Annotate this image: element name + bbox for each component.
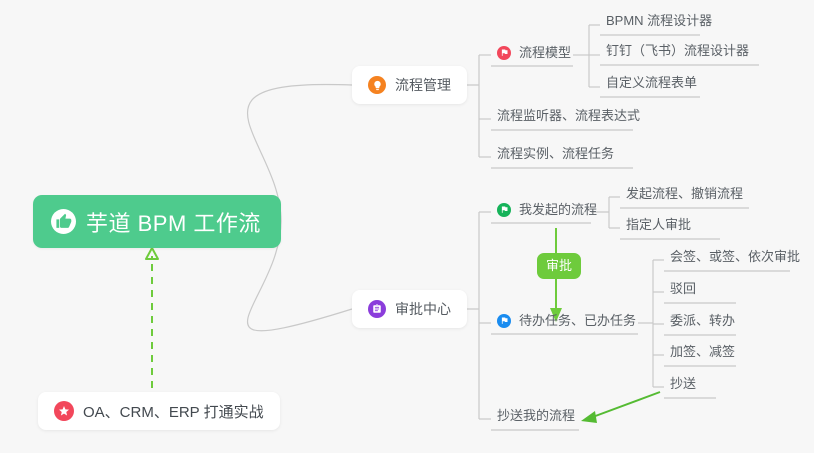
- leaf-label: 流程监听器、流程表达式: [497, 108, 640, 124]
- flag-icon: [497, 314, 511, 328]
- star-icon: [54, 401, 74, 421]
- leaf-todo-done-tasks[interactable]: 待办任务、已办任务: [491, 312, 642, 334]
- leaf-label: 流程实例、流程任务: [497, 146, 614, 162]
- leaf-label: 钉钉（飞书）流程设计器: [606, 43, 749, 59]
- leaf-process-listener[interactable]: 流程监听器、流程表达式: [491, 108, 646, 129]
- leaf-label: 指定人审批: [626, 217, 691, 233]
- lightbulb-icon: [368, 76, 386, 94]
- leaf-label: 抄送: [670, 376, 696, 392]
- branch-node-process-management[interactable]: 流程管理: [352, 66, 467, 104]
- flag-icon: [497, 203, 511, 217]
- leaf-process-model[interactable]: 流程模型: [491, 44, 577, 66]
- branch-label-process-management: 流程管理: [395, 75, 451, 95]
- branch-label-approval-center: 审批中心: [395, 299, 451, 319]
- root-label: 芋道 BPM 工作流: [86, 206, 261, 238]
- integration-label: OA、CRM、ERP 打通实战: [83, 401, 264, 422]
- arrow-cc-to-cc-to-me: [581, 392, 660, 423]
- leaf-label: 流程模型: [519, 44, 571, 61]
- leaf-assignee-approve[interactable]: 指定人审批: [620, 217, 697, 238]
- leaf-my-initiated[interactable]: 我发起的流程: [491, 201, 603, 223]
- leaf-label: 驳回: [670, 281, 696, 297]
- leaf-cc[interactable]: 抄送: [664, 376, 702, 397]
- leaf-reject[interactable]: 驳回: [664, 281, 702, 302]
- leaf-label: 发起流程、撤销流程: [626, 186, 743, 202]
- leaf-label: 加签、减签: [670, 344, 735, 360]
- leaf-label: 待办任务、已办任务: [519, 312, 636, 329]
- leaf-label: 委派、转办: [670, 313, 735, 329]
- annotation-approve-label: 审批: [546, 258, 572, 273]
- leaf-cc-to-me[interactable]: 抄送我的流程: [491, 408, 581, 429]
- arrow-integration-to-root: [146, 248, 158, 388]
- leaf-label: BPMN 流程设计器: [606, 13, 712, 29]
- root-node[interactable]: 芋道 BPM 工作流: [33, 195, 281, 248]
- leaf-start-cancel-process[interactable]: 发起流程、撤销流程: [620, 186, 749, 207]
- leaf-label: 抄送我的流程: [497, 408, 575, 424]
- branch-node-approval-center[interactable]: 审批中心: [352, 290, 467, 328]
- flag-icon: [497, 46, 511, 60]
- leaf-custom-form[interactable]: 自定义流程表单: [600, 75, 703, 96]
- leaf-add-remove-sign[interactable]: 加签、减签: [664, 344, 741, 365]
- clipboard-icon: [368, 300, 386, 318]
- annotation-approve: 审批: [537, 253, 581, 279]
- leaf-process-instance[interactable]: 流程实例、流程任务: [491, 146, 620, 167]
- integration-node[interactable]: OA、CRM、ERP 打通实战: [38, 392, 280, 430]
- leaf-label: 会签、或签、依次审批: [670, 249, 800, 265]
- mindmap-canvas: 芋道 BPM 工作流 流程管理 审批中心 OA、CRM、ERP 打通实战: [0, 0, 814, 453]
- leaf-dingtalk-designer[interactable]: 钉钉（飞书）流程设计器: [600, 43, 755, 64]
- thumbs-up-icon: [51, 209, 76, 234]
- leaf-delegate-transfer[interactable]: 委派、转办: [664, 313, 741, 334]
- leaf-bpmn-designer[interactable]: BPMN 流程设计器: [600, 13, 718, 34]
- leaf-label: 我发起的流程: [519, 201, 597, 218]
- leaf-countersign[interactable]: 会签、或签、依次审批: [664, 249, 806, 270]
- leaf-label: 自定义流程表单: [606, 75, 697, 91]
